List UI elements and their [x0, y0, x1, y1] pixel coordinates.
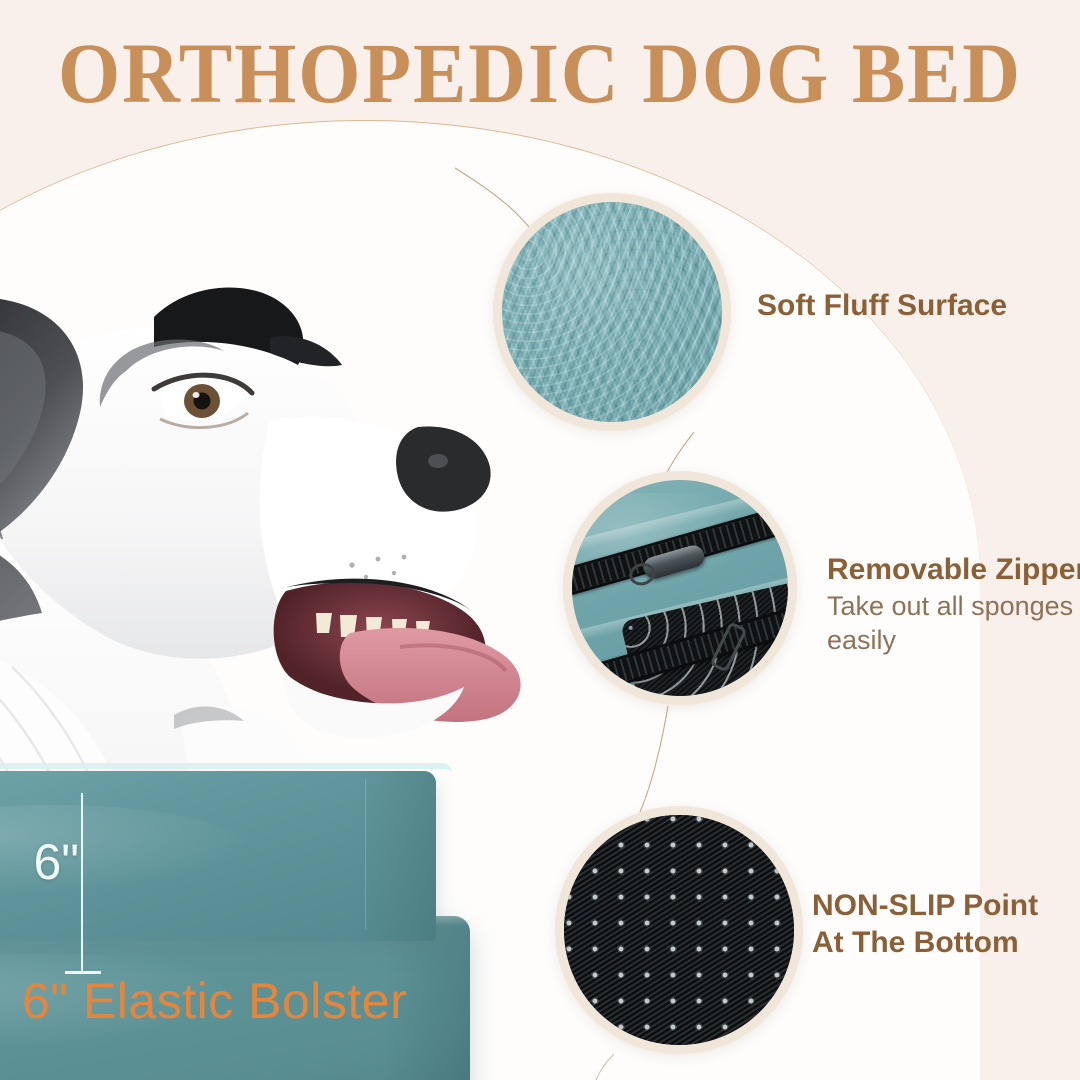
bolster-caption: 6" Elastic Bolster	[22, 972, 407, 1030]
height-dimension-annotation: 6"	[45, 793, 175, 973]
callout-sub-zipper: Take out all sponges easily	[827, 589, 1077, 657]
dimension-line	[81, 793, 83, 973]
nonslip-dots-icon	[564, 815, 794, 1045]
callout-swatch-nonslip	[555, 806, 803, 1054]
callout-swatch-zipper	[563, 471, 797, 705]
callout-label-fluff: Soft Fluff Surface	[757, 288, 1007, 325]
callout-heading-fluff: Soft Fluff Surface	[757, 288, 1007, 325]
infographic-canvas: ORTHOPEDIC DOG BED	[0, 0, 1080, 1080]
callout-heading-nonslip-line1: NON-SLIP Point	[812, 888, 1038, 925]
callout-swatch-fluff	[493, 193, 731, 431]
fluff-texture-icon	[502, 202, 722, 422]
zipper-detail-icon	[572, 480, 788, 696]
callout-heading-zipper: Removable Zipper	[827, 552, 1077, 589]
dimension-value: 6"	[0, 837, 79, 887]
callout-heading-nonslip-line2: At The Bottom	[812, 925, 1038, 962]
callout-label-zipper: Removable Zipper Take out all sponges ea…	[827, 552, 1077, 657]
page-title: ORTHOPEDIC DOG BED	[38, 30, 1042, 116]
callout-label-nonslip: NON-SLIP Point At The Bottom	[812, 888, 1038, 961]
